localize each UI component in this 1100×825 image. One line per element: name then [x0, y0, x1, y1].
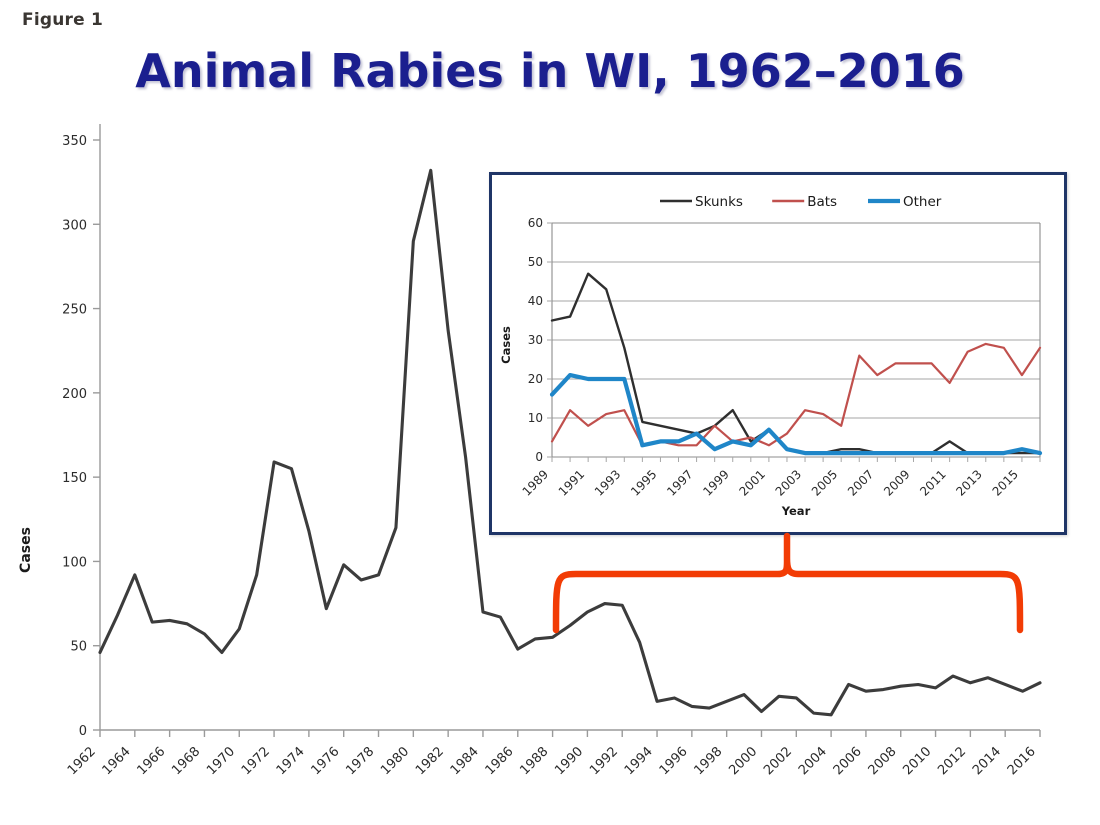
main-x-tick-label: 1970 — [204, 744, 238, 778]
main-x-tick-label: 1968 — [169, 744, 203, 778]
chart-title: Animal Rabies in WI, 1962–2016 — [0, 44, 1100, 98]
main-x-tick-label: 1978 — [343, 744, 377, 778]
figure-caption: Figure 1 — [22, 10, 103, 30]
inset-x-axis-label: Year — [781, 504, 811, 518]
legend-label-bats: Bats — [807, 194, 837, 210]
main-x-tick-label: 1964 — [100, 744, 134, 778]
main-x-tick-label: 2008 — [866, 744, 900, 778]
inset-x-tick-label: 1993 — [592, 467, 623, 498]
inset-x-axis: 1989199119931995199719992001200320052007… — [520, 457, 1040, 499]
main-y-axis: 050100150200250300350 — [62, 124, 100, 739]
inset-y-tick-label: 30 — [528, 333, 543, 347]
main-y-tick-label: 350 — [62, 134, 87, 149]
inset-x-tick-label: 1995 — [628, 467, 659, 498]
main-x-tick-label: 2004 — [796, 744, 830, 778]
inset-y-tick-label: 50 — [528, 255, 543, 269]
inset-x-tick-label: 2011 — [917, 467, 948, 498]
main-x-axis: 1962196419661968197019721974197619781980… — [65, 730, 1040, 778]
inset-chart-svg: SkunksBatsOther 0102030405060 1989199119… — [492, 175, 1064, 532]
legend-label-skunks: Skunks — [695, 194, 743, 210]
main-y-tick-label: 200 — [62, 387, 87, 402]
legend-label-other: Other — [903, 194, 942, 210]
main-x-tick-label: 2012 — [935, 744, 969, 778]
inset-y-axis: 0102030405060 — [528, 216, 552, 464]
main-x-tick-label: 1984 — [448, 744, 482, 778]
main-x-tick-label: 1976 — [309, 744, 343, 778]
inset-x-tick-label: 2005 — [809, 467, 840, 498]
inset-legend: SkunksBatsOther — [660, 194, 942, 210]
inset-x-tick-label: 2001 — [737, 467, 768, 498]
main-x-tick-label: 1974 — [274, 744, 308, 778]
main-x-tick-label: 1986 — [483, 744, 517, 778]
main-x-tick-label: 1962 — [65, 744, 99, 778]
inset-y-tick-label: 10 — [528, 411, 543, 425]
main-y-tick-label: 0 — [79, 724, 87, 739]
inset-x-tick-label: 2013 — [953, 467, 984, 498]
main-y-tick-label: 150 — [62, 471, 87, 486]
main-y-axis-label: Cases — [18, 527, 34, 573]
inset-y-tick-label: 20 — [528, 372, 543, 386]
inset-x-tick-label: 2009 — [881, 467, 912, 498]
main-x-tick-label: 2014 — [970, 744, 1004, 778]
main-x-tick-label: 1988 — [517, 744, 551, 778]
main-y-tick-label: 100 — [62, 555, 87, 570]
main-x-tick-label: 1992 — [587, 744, 621, 778]
main-x-tick-label: 1980 — [378, 744, 412, 778]
inset-x-tick-label: 1989 — [520, 467, 551, 498]
inset-y-tick-label: 0 — [535, 450, 543, 464]
main-x-tick-label: 2016 — [1005, 744, 1039, 778]
main-y-tick-label: 300 — [62, 218, 87, 233]
inset-x-tick-label: 1991 — [556, 467, 587, 498]
inset-y-tick-label: 60 — [528, 216, 543, 230]
main-x-tick-label: 1998 — [691, 744, 725, 778]
inset-y-tick-label: 40 — [528, 294, 543, 308]
main-y-tick-label: 250 — [62, 303, 87, 318]
inset-chart-panel: SkunksBatsOther 0102030405060 1989199119… — [489, 172, 1067, 535]
main-x-tick-label: 2000 — [726, 744, 760, 778]
main-x-tick-label: 1972 — [239, 744, 273, 778]
main-x-tick-label: 2002 — [761, 744, 795, 778]
main-x-tick-label: 1990 — [552, 744, 586, 778]
inset-y-axis-label: Cases — [499, 326, 513, 364]
main-x-tick-label: 1966 — [134, 744, 168, 778]
inset-x-tick-label: 2015 — [990, 467, 1021, 498]
main-x-tick-label: 1994 — [622, 744, 656, 778]
main-x-tick-label: 2006 — [831, 744, 865, 778]
inset-x-tick-label: 1999 — [700, 467, 731, 498]
main-x-tick-label: 1996 — [657, 744, 691, 778]
inset-series-bats — [552, 344, 1040, 445]
inset-x-tick-label: 1997 — [664, 467, 695, 498]
inset-x-tick-label: 2003 — [773, 467, 804, 498]
main-x-tick-label: 1982 — [413, 744, 447, 778]
main-y-tick-label: 50 — [70, 640, 87, 655]
inset-x-tick-label: 2007 — [845, 467, 876, 498]
main-x-tick-label: 2010 — [900, 744, 934, 778]
